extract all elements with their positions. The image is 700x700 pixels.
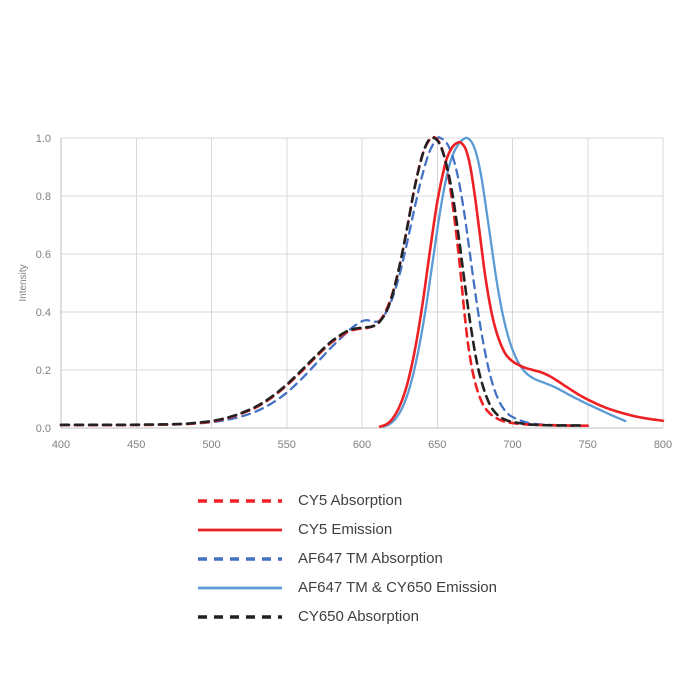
chart-legend: CY5 AbsorptionCY5 EmissionAF647 TM Absor… [196, 486, 497, 631]
curve-cy5-absorption [61, 137, 588, 426]
y-tick-label: 0.8 [36, 191, 51, 203]
y-tick-label: 0.6 [36, 249, 51, 261]
x-tick-label: 450 [127, 439, 145, 451]
legend-item[interactable]: CY5 Emission [196, 515, 497, 544]
legend-label: CY5 Emission [298, 521, 392, 538]
y-tick-label: 0.2 [36, 365, 51, 377]
legend-label: AF647 TM & CY650 Emission [298, 579, 497, 596]
legend-item[interactable]: CY650 Absorption [196, 602, 497, 631]
legend-swatch-icon [196, 494, 284, 508]
x-tick-label: 650 [428, 439, 446, 451]
legend-swatch-icon [196, 581, 284, 595]
curve-cy5-emission [380, 142, 663, 427]
legend-swatch-icon [196, 552, 284, 566]
x-tick-label: 750 [579, 439, 597, 451]
legend-item[interactable]: AF647 TM & CY650 Emission [196, 573, 497, 602]
y-tick-label: 0.0 [36, 423, 51, 435]
x-tick-labels: 400450500550600650700750800 [52, 439, 672, 451]
x-tick-label: 800 [654, 439, 672, 451]
gridlines [61, 138, 663, 428]
legend-item[interactable]: AF647 TM Absorption [196, 544, 497, 573]
legend-swatch-icon [196, 610, 284, 624]
legend-label: AF647 TM Absorption [298, 550, 443, 567]
x-tick-label: 550 [278, 439, 296, 451]
legend-item[interactable]: CY5 Absorption [196, 486, 497, 515]
x-tick-label: 700 [503, 439, 521, 451]
x-tick-label: 500 [202, 439, 220, 451]
x-tick-label: 400 [52, 439, 70, 451]
x-tick-label: 600 [353, 439, 371, 451]
y-axis-title: Intensity [18, 264, 29, 301]
legend-swatch-icon [196, 523, 284, 537]
curve-cy650-absorption [61, 138, 585, 426]
y-tick-labels: 0.00.20.40.60.81.0 [36, 133, 51, 435]
curve-af647-tm-absorption [61, 137, 588, 425]
y-axis-title-text: Intensity [18, 264, 29, 301]
legend-label: CY650 Absorption [298, 608, 419, 625]
curve-af647-tm-cy650-emission [383, 138, 625, 427]
y-tick-label: 0.4 [36, 307, 51, 319]
legend-label: CY5 Absorption [298, 492, 402, 509]
spectra-figure: 400450500550600650700750800 0.00.20.40.6… [0, 0, 700, 700]
y-tick-label: 1.0 [36, 133, 51, 145]
